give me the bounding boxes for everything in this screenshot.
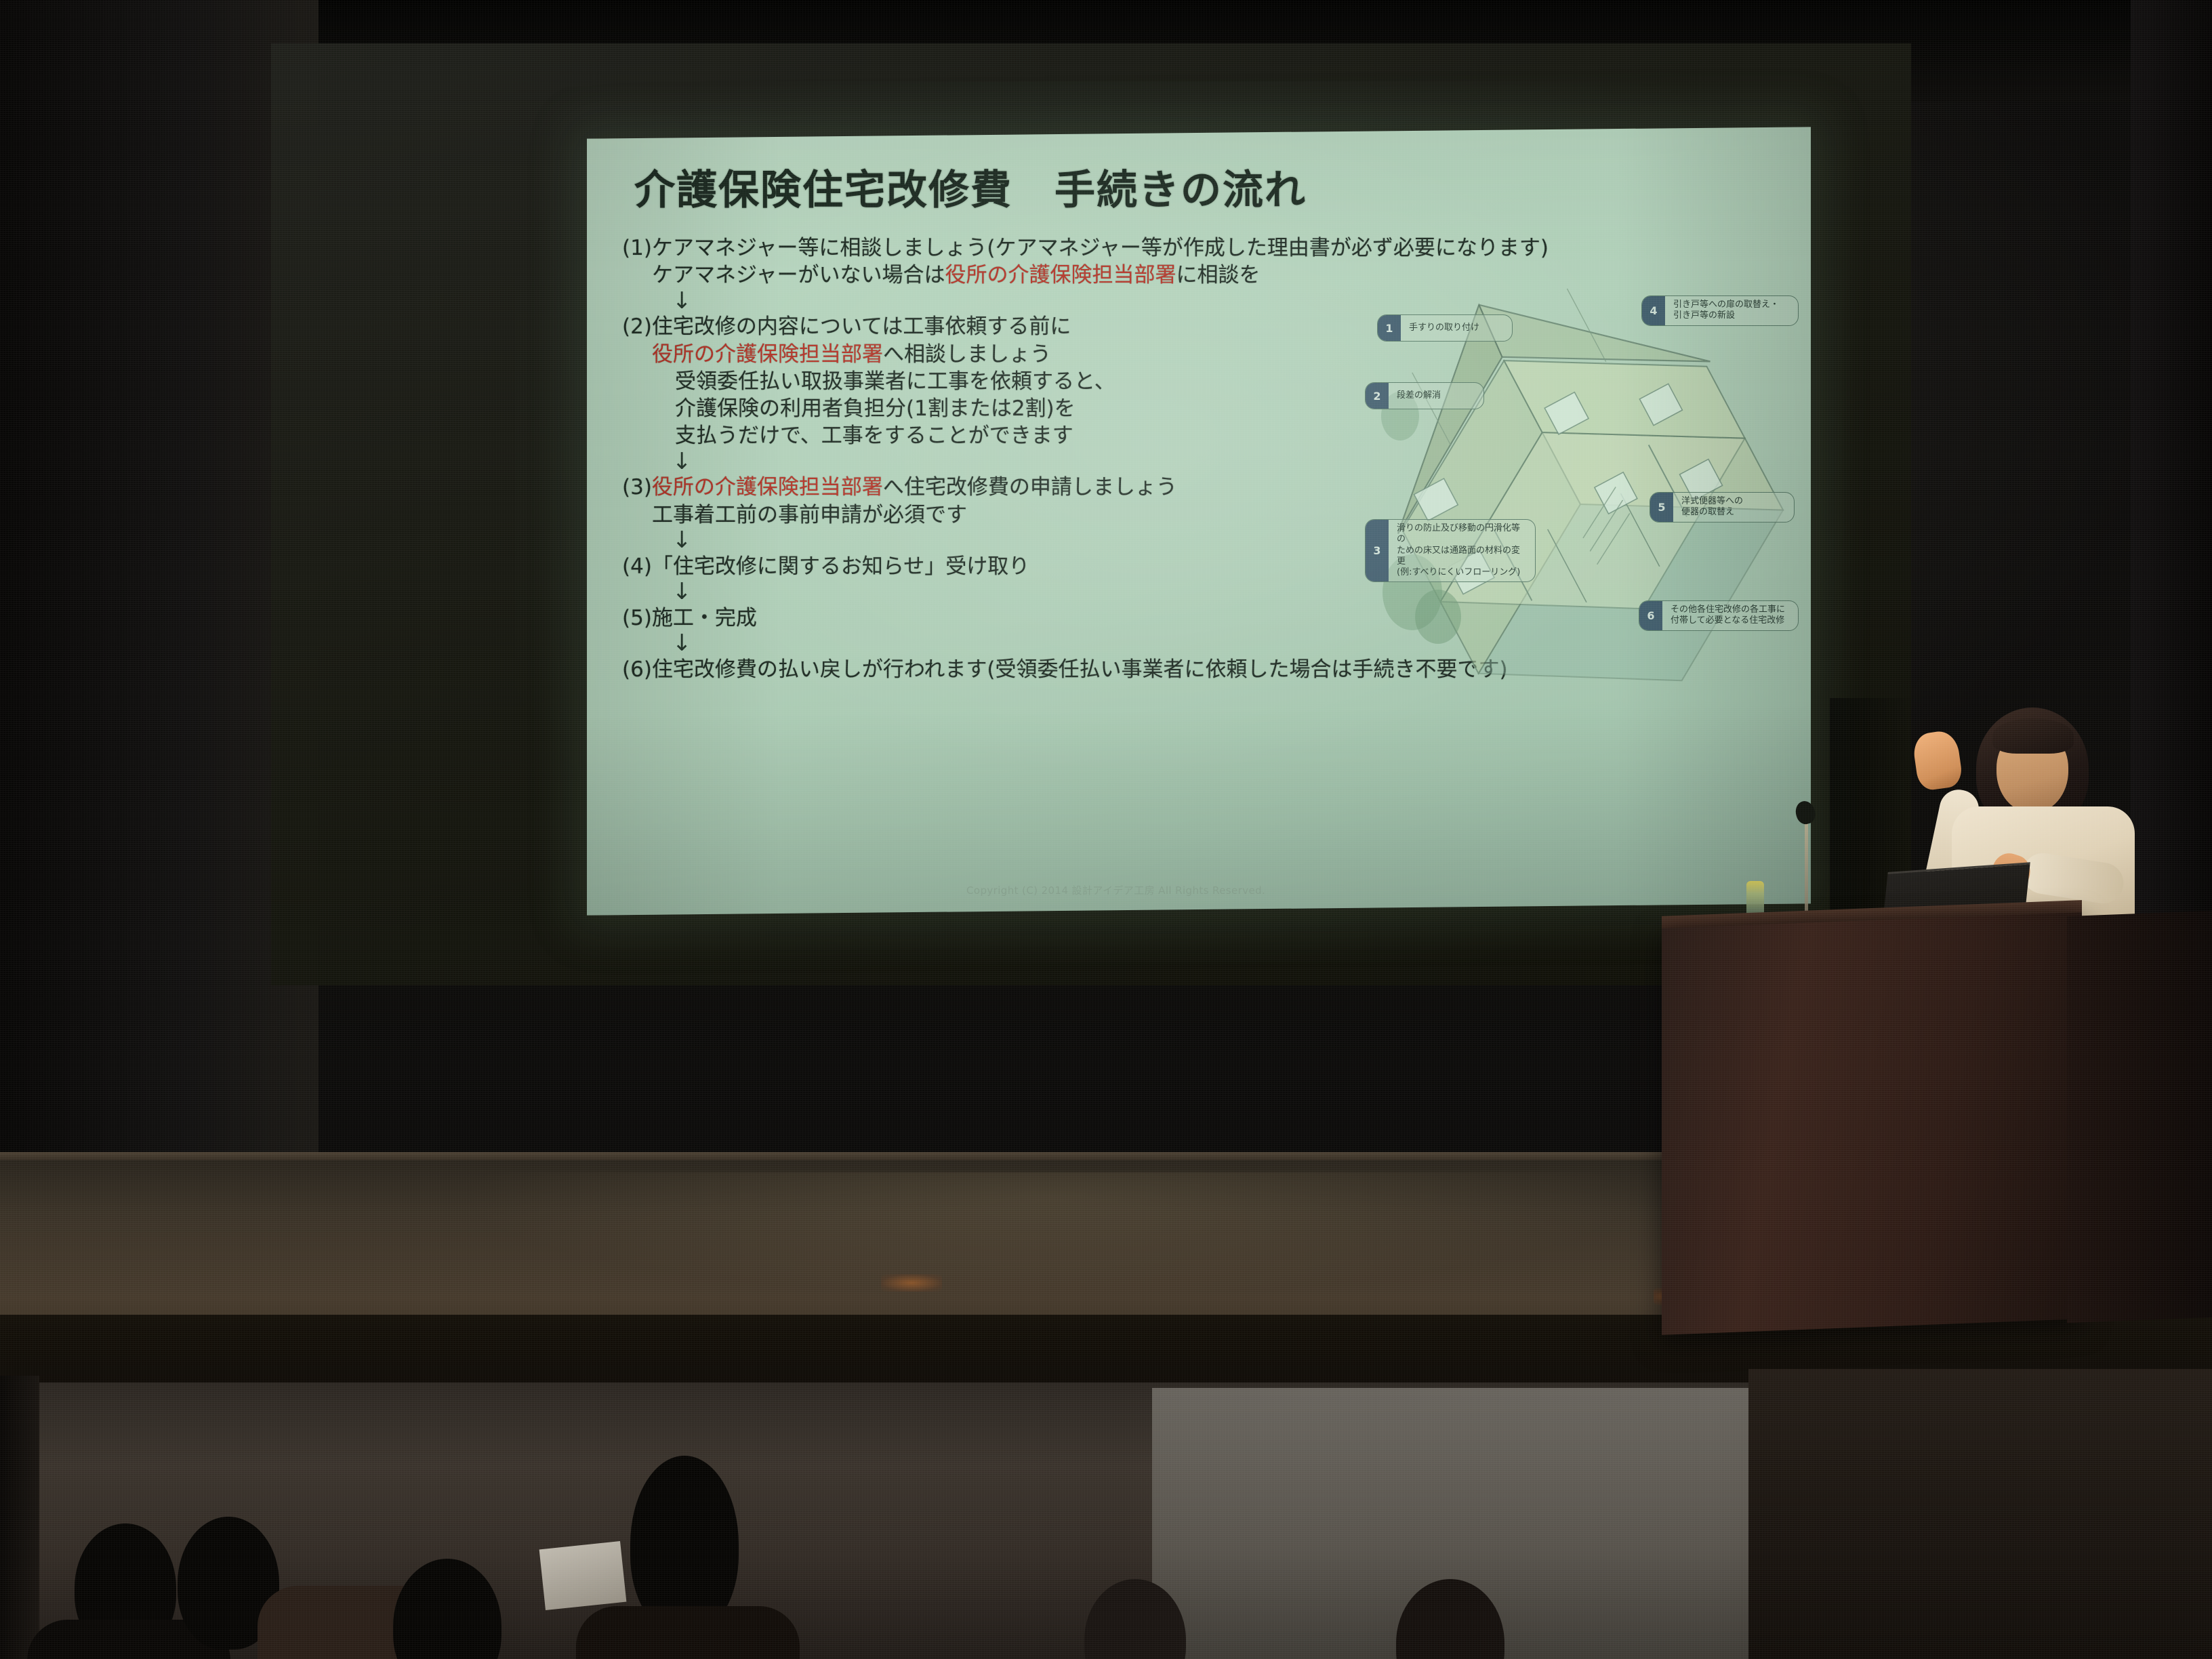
microphone-stem — [1805, 813, 1808, 922]
callout-number-badge: 1 — [1378, 315, 1401, 341]
callout-label: 洋式便器等への 便器の取替え — [1673, 493, 1750, 522]
presenter-fringe — [1992, 718, 2074, 754]
step-text: へ相談しましょう — [883, 342, 1051, 367]
slide-step-line: (2)住宅改修の内容については工事依頼する前に — [622, 313, 1422, 340]
step-text: (3) — [622, 475, 652, 499]
diagram-callout: 2段差の解消 — [1365, 382, 1484, 409]
step-text: (4)「住宅改修に関するお知らせ」受け取り — [622, 554, 1029, 579]
callout-number-badge: 5 — [1650, 493, 1673, 522]
podium-side-panel — [2067, 911, 2212, 1323]
step-text: 支払うだけで、工事をすることができます — [675, 424, 1073, 448]
diagram-callout: 6その他各住宅改修の各工事に 付帯して必要となる住宅改修 — [1639, 600, 1799, 631]
slide-title: 介護保険住宅改修費 手続きの流れ — [634, 157, 1307, 216]
callout-label: 引き戸等への扉の取替え・ 引き戸等の新設 — [1665, 296, 1786, 325]
slide-step-line: ケアマネジャーがいない場合は役所の介護保険担当部署に相談を — [622, 262, 1422, 289]
step-text: へ住宅改修費の申請しましょう — [883, 475, 1177, 499]
callout-label: 滑りの防止及び移動の円滑化等の ための床又は通路面の材料の変更 (例:すべりにく… — [1389, 520, 1535, 581]
callout-number-badge: 3 — [1366, 520, 1389, 581]
stage-light-sheen — [474, 1172, 1626, 1294]
house-diagram: 1手すりの取り付け2段差の解消3滑りの防止及び移動の円滑化等の ための床又は通路… — [1365, 213, 1799, 796]
step-text: 工事着工前の事前申請が必須です — [652, 503, 967, 527]
down-arrow-icon: ↓ — [622, 529, 1422, 553]
callout-label: 手すりの取り付け — [1401, 315, 1486, 341]
footlight — [881, 1274, 942, 1292]
slide-step-line: (6)住宅改修費の払い戻しが行われます(受領委任払い事業者に依頼した場合は手続き… — [622, 656, 1422, 683]
diagram-callout: 4引き戸等への扉の取替え・ 引き戸等の新設 — [1641, 295, 1799, 326]
diagram-callout: 1手すりの取り付け — [1377, 314, 1513, 342]
down-arrow-icon: ↓ — [622, 580, 1422, 605]
slide-step-list: (1)ケアマネジャー等に相談しましょう(ケアマネジャー等が作成した理由書が必ず必… — [622, 234, 1422, 683]
step-text: (2)住宅改修の内容については工事依頼する前に — [622, 314, 1071, 339]
callout-label: その他各住宅改修の各工事に 付帯して必要となる住宅改修 — [1662, 601, 1792, 630]
callout-number-badge: 2 — [1366, 383, 1389, 409]
callout-label: 段差の解消 — [1389, 383, 1448, 409]
audience-shoulders — [576, 1606, 800, 1659]
highlighted-term: 役所の介護保険担当部署 — [652, 475, 883, 499]
slide-step-line: 受領委任払い取扱事業者に工事を依頼すると、 — [622, 368, 1422, 395]
podium — [1662, 912, 2082, 1335]
slide-step-line: (3)役所の介護保険担当部署へ住宅改修費の申請しましょう — [622, 474, 1422, 501]
presenter-raised-hand — [1911, 729, 1963, 792]
foreground-right-dark — [1748, 1369, 2212, 1659]
callout-number-badge: 6 — [1639, 601, 1662, 630]
foreground-pillar — [0, 1376, 39, 1659]
highlighted-term: 役所の介護保険担当部署 — [945, 263, 1176, 287]
down-arrow-icon: ↓ — [622, 289, 1422, 314]
slide-copyright: Copyright (C) 2014 設計アイデア工房 All Rights R… — [966, 883, 1265, 897]
photo-scene: 介護保険住宅改修費 手続きの流れ (1)ケアマネジャー等に相談しましょう(ケアマ… — [0, 0, 2212, 1659]
slide-step-line: 介護保険の利用者負担分(1割または2割)を — [622, 395, 1422, 422]
slide-step-line: (1)ケアマネジャー等に相談しましょう(ケアマネジャー等が作成した理由書が必ず必… — [622, 234, 1422, 262]
slide-step-line: 役所の介護保険担当部署へ相談しましょう — [622, 341, 1422, 368]
highlighted-term: 役所の介護保険担当部署 — [652, 342, 883, 367]
down-arrow-icon: ↓ — [622, 450, 1422, 474]
step-text: に相談を — [1176, 263, 1260, 287]
projected-slide: 介護保険住宅改修費 手続きの流れ (1)ケアマネジャー等に相談しましょう(ケアマ… — [587, 127, 1811, 915]
step-text: (5)施工・完成 — [622, 606, 757, 630]
audience-paper — [539, 1541, 627, 1610]
slide-step-line: (4)「住宅改修に関するお知らせ」受け取り — [622, 553, 1422, 580]
slide-step-line: 支払うだけで、工事をすることができます — [622, 422, 1422, 449]
callout-number-badge: 4 — [1642, 296, 1665, 325]
down-arrow-icon: ↓ — [622, 632, 1422, 656]
step-text: 介護保険の利用者負担分(1割または2割)を — [675, 396, 1076, 421]
diagram-callout: 5洋式便器等への 便器の取替え — [1650, 492, 1795, 523]
step-text: ケアマネジャーがいない場合は — [652, 263, 945, 287]
slide-step-line: (5)施工・完成 — [622, 605, 1422, 632]
diagram-callout: 3滑りの防止及び移動の円滑化等の ための床又は通路面の材料の変更 (例:すべりに… — [1365, 519, 1536, 582]
step-text: 受領委任払い取扱事業者に工事を依頼すると、 — [675, 369, 1115, 394]
slide-step-line: 工事着工前の事前申請が必須です — [622, 501, 1422, 529]
